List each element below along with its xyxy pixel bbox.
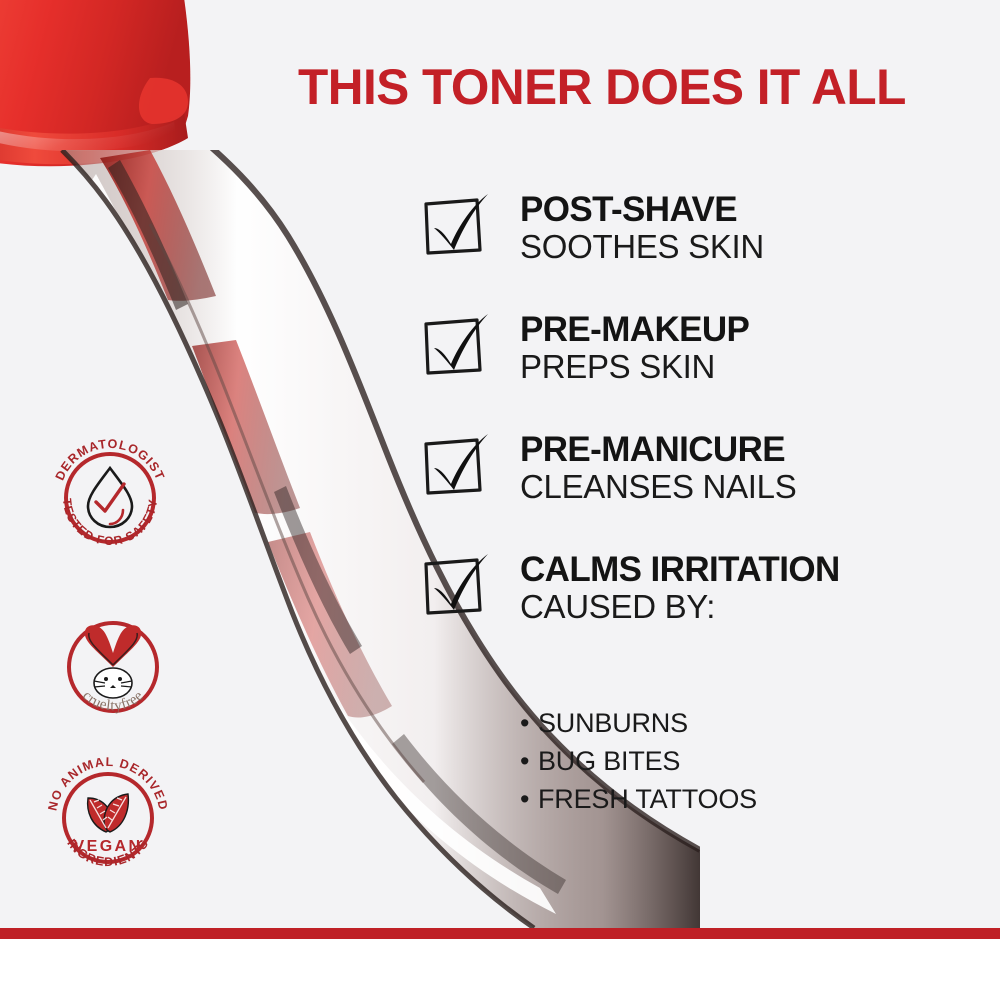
badge-dermatologist-tested: DERMATOLOGIST TESTED FOR SAFETY xyxy=(44,432,176,564)
checklist-item-title: POST-SHAVE xyxy=(520,192,764,228)
bullet-dot-icon: • xyxy=(520,704,538,742)
list-item-label: FRESH TATTOOS xyxy=(538,784,757,814)
checklist-item-subtitle: PREPS SKIN xyxy=(520,348,749,386)
svg-text:NO ANIMAL DERIVED: NO ANIMAL DERIVED xyxy=(45,755,170,812)
list-item: •SUNBURNS xyxy=(520,704,920,742)
checkbox-checked-icon xyxy=(420,552,492,622)
checklist-item-calms-irritation: CALMS IRRITATION CAUSED BY: xyxy=(420,552,960,626)
checklist-item-post-shave: POST-SHAVE SOOTHES SKIN xyxy=(420,192,960,266)
list-item: •FRESH TATTOOS xyxy=(520,780,920,818)
bullet-dot-icon: • xyxy=(520,742,538,780)
badge-cruelty-free: crueltyfree xyxy=(47,603,179,735)
badge-center-text: VEGAN xyxy=(74,838,143,855)
bottom-red-bar xyxy=(0,928,1000,939)
checkbox-checked-icon xyxy=(420,312,492,382)
benefits-checklist: POST-SHAVE SOOTHES SKIN PRE-MAKEUP PREPS… xyxy=(420,192,960,626)
bunny-heart-icon xyxy=(85,625,141,698)
checkbox-checked-icon xyxy=(420,432,492,502)
checkbox-checked-icon xyxy=(420,192,492,262)
bullet-dot-icon: • xyxy=(520,780,538,818)
checklist-item-subtitle: SOOTHES SKIN xyxy=(520,228,764,266)
list-item-label: SUNBURNS xyxy=(538,708,688,738)
irritation-causes-list: •SUNBURNS •BUG BITES •FRESH TATTOOS xyxy=(520,704,920,818)
checklist-item-title: CALMS IRRITATION xyxy=(520,552,840,588)
badge-vegan-ingredients: NO ANIMAL DERIVED INGREDIENTS VEGAN xyxy=(42,752,174,884)
checklist-item-pre-manicure: PRE-MANICURE CLEANSES NAILS xyxy=(420,432,960,506)
list-item: •BUG BITES xyxy=(520,742,920,780)
checklist-item-subtitle: CAUSED BY: xyxy=(520,588,840,626)
checklist-item-subtitle: CLEANSES NAILS xyxy=(520,468,796,506)
page-title: THIS TONER DOES IT ALL xyxy=(298,62,951,112)
list-item-label: BUG BITES xyxy=(538,746,680,776)
checklist-item-pre-makeup: PRE-MAKEUP PREPS SKIN xyxy=(420,312,960,386)
checklist-item-title: PRE-MANICURE xyxy=(520,432,796,468)
leaves-icon xyxy=(88,794,129,832)
bottom-white-strip xyxy=(0,938,1000,1000)
badge-top-text: NO ANIMAL DERIVED xyxy=(45,755,170,812)
droplet-check-icon xyxy=(88,468,132,527)
product-infographic: THIS TONER DOES IT ALL POST-SHAVE SOOTHE… xyxy=(0,0,1000,1000)
checklist-item-title: PRE-MAKEUP xyxy=(520,312,749,348)
